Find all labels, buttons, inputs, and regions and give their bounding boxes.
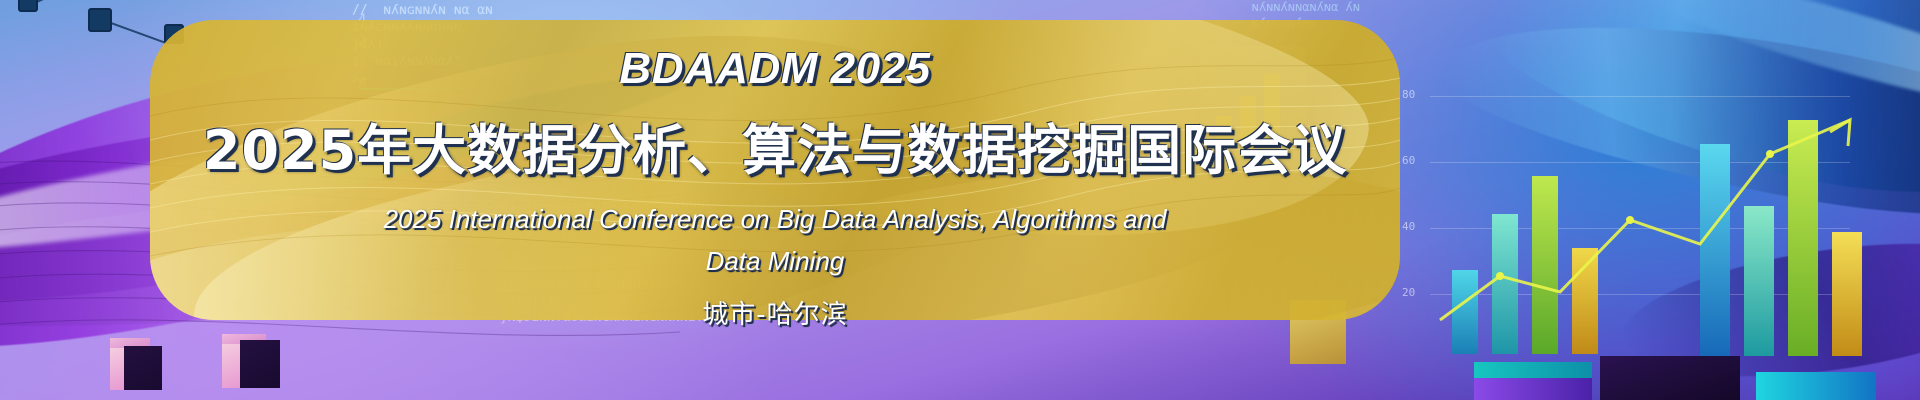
- decor-network-node-3: [18, 0, 38, 12]
- decor-cube-1: [110, 338, 166, 390]
- decor-chart-axis-label-80: 80: [1402, 88, 1415, 101]
- decor-neon-block-dark: [1600, 356, 1740, 400]
- decor-chart-trendline: [1430, 80, 1870, 360]
- decor-chart-axis-label-20: 20: [1402, 286, 1415, 299]
- conference-title-english-line1: 2025 International Conference on Big Dat…: [384, 199, 1167, 239]
- decor-chart-axis-label-40: 40: [1402, 220, 1415, 233]
- decor-network-edge-2: [30, 0, 87, 6]
- conference-title-english-line2: Data Mining: [706, 241, 845, 281]
- banner-text-stack: BDAADM 2025 2025年大数据分析、算法与数据挖掘国际会议 2025 …: [150, 20, 1400, 320]
- decor-cube-2: [222, 334, 284, 390]
- decor-neon-block-cyan: [1756, 372, 1876, 400]
- conference-banner: 4 2 2 8 0 // ɴʎɴɢɴɴʎɴ ɴα αɴ ɕɴʎɢɴɴʎʎɴɴαɴ…: [0, 0, 1920, 400]
- decor-neon-block-teal: [1474, 362, 1592, 378]
- conference-acronym: BDAADM 2025: [619, 44, 930, 94]
- conference-title-chinese: 2025年大数据分析、算法与数据挖掘国际会议: [203, 106, 1347, 185]
- decor-neon-block-violet: [1474, 378, 1592, 400]
- decor-chart-axis-label-60: 60: [1402, 154, 1415, 167]
- decor-network-node-1: [88, 8, 112, 32]
- conference-city: 城市-哈尔滨: [702, 294, 847, 331]
